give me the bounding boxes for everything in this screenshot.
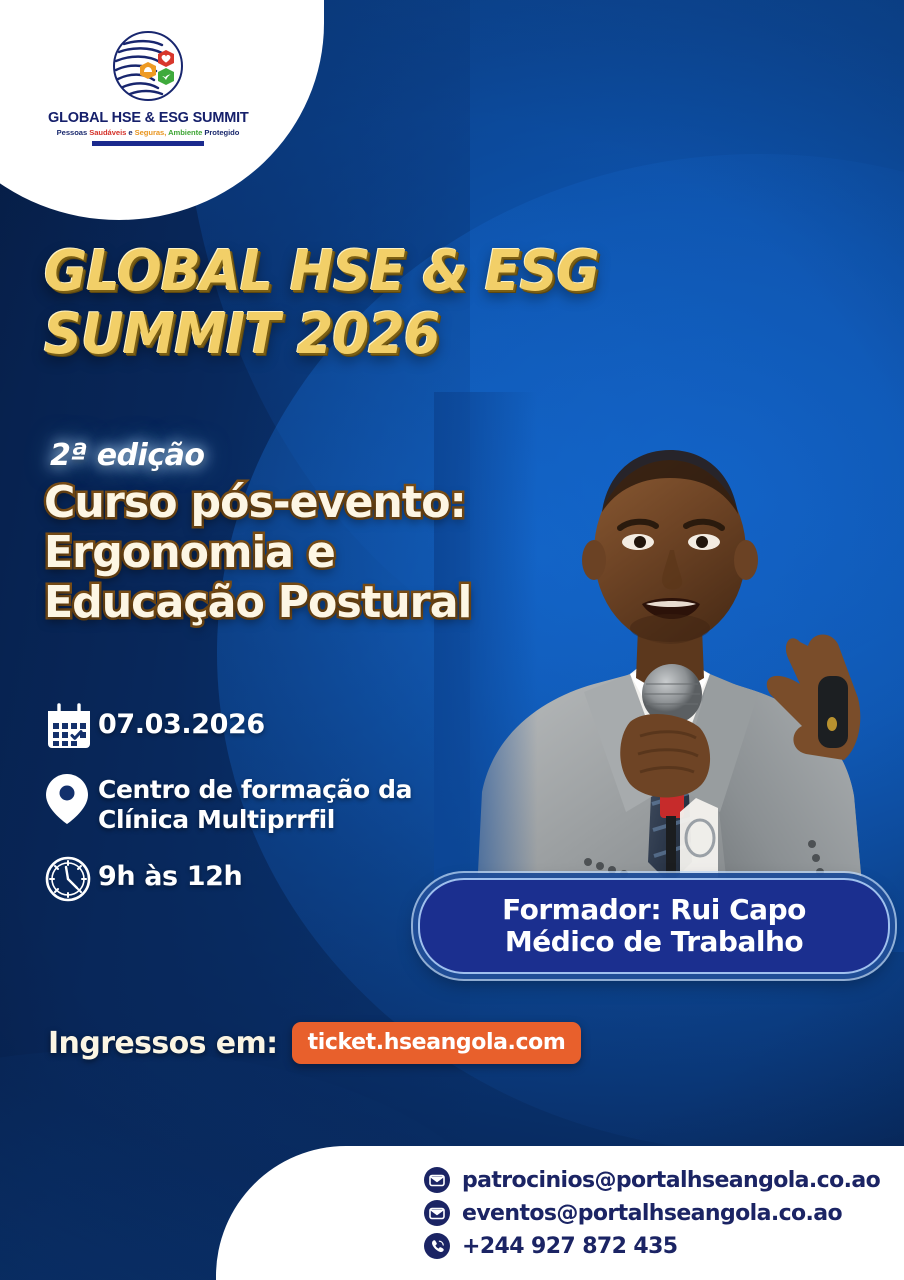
speaker-role: Médico de Trabalho [505,926,803,958]
email-icon [424,1200,450,1226]
course-line-1: Curso pós-evento: [44,478,471,528]
event-poster: GLOBAL HSE & ESG SUMMIT Pessoas Saudávei… [0,0,904,1280]
speaker-badge: Formador: Rui Capo Médico de Trabalho [418,878,890,974]
contact-email-1: patrocinios@portalhseangola.co.ao [462,1168,880,1193]
tagline-part-2: Saudáveis [89,128,126,137]
contact-row-email-1[interactable]: patrocinios@portalhseangola.co.ao [424,1167,880,1193]
event-location-line-1: Centro de formação da [98,775,412,805]
event-details: 07.03.2026 Centro de formação da Clínica… [44,700,474,921]
clock-icon [44,853,98,903]
footer-contacts: patrocinios@portalhseangola.co.ao evento… [424,1167,880,1266]
calendar-icon [44,700,98,752]
contact-phone: +244 927 872 435 [462,1234,678,1259]
course-line-3: Educação Postural [44,578,471,628]
email-icon [424,1167,450,1193]
speaker-name: Formador: Rui Capo [502,894,806,926]
contact-row-phone[interactable]: +244 927 872 435 [424,1233,880,1259]
tickets-section: Ingressos em: ticket.hseangola.com [48,1022,581,1064]
course-title: Curso pós-evento: Ergonomia e Educação P… [44,478,484,628]
brand-logo: GLOBAL HSE & ESG SUMMIT Pessoas Saudávei… [48,24,248,146]
logo-title: GLOBAL HSE & ESG SUMMIT [48,110,248,126]
detail-row-location: Centro de formação da Clínica Multiprrfi… [44,770,474,835]
detail-row-time: 9h às 12h [44,853,474,903]
page-title: GLOBAL HSE & ESG SUMMIT 2026 [44,243,634,363]
tickets-url-button[interactable]: ticket.hseangola.com [292,1022,582,1064]
tagline-part-6: Protegido [204,128,239,137]
logo-underline [92,141,204,146]
contact-email-2: eventos@portalhseangola.co.ao [462,1201,842,1226]
tickets-label: Ingressos em: [48,1026,278,1061]
title-line-2: SUMMIT 2026 [44,306,599,363]
tagline-part-4: Seguras, [135,128,167,137]
tagline-part-3: e [126,128,134,137]
event-location: Centro de formação da Clínica Multiprrfi… [98,770,412,835]
logo-tagline: Pessoas Saudáveis e Seguras, Ambiente Pr… [48,128,248,137]
course-line-2: Ergonomia e [44,528,471,578]
map-pin-icon [44,770,98,826]
globe-hexagons-logo-icon [100,24,196,108]
event-date: 07.03.2026 [98,700,265,741]
tagline-part-1: Pessoas [57,128,90,137]
detail-row-date: 07.03.2026 [44,700,474,752]
event-location-line-2: Clínica Multiprrfil [98,805,412,835]
edition-label: 2ª edição [50,438,204,473]
contact-row-email-2[interactable]: eventos@portalhseangola.co.ao [424,1200,880,1226]
title-line-1: GLOBAL HSE & ESG [44,243,599,300]
phone-icon [424,1233,450,1259]
tagline-part-5: Ambiente [166,128,204,137]
speaker-photo [434,392,904,952]
event-time: 9h às 12h [98,853,242,893]
